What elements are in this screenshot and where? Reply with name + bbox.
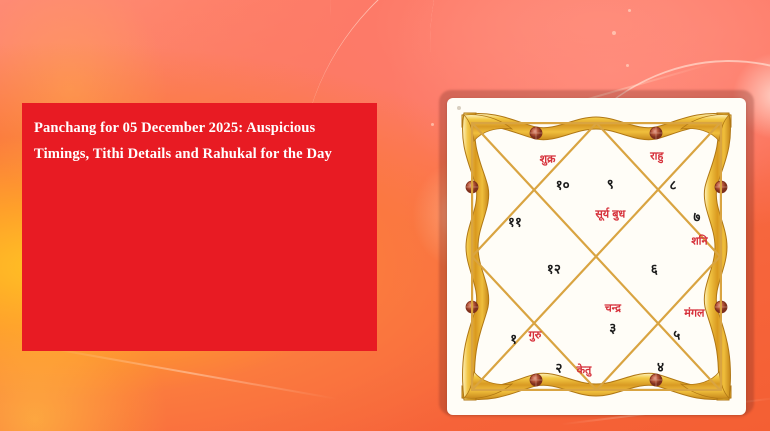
screenshot-root: Panchang for 05 December 2025: Auspiciou… [0,0,770,431]
headline-banner: Panchang for 05 December 2025: Auspiciou… [22,103,377,351]
kundli-house-grid: १०शुक्र९राहु८११सूर्य बुध७शनि१२६चन्द्र३मं… [471,122,722,391]
page-title: Panchang for 05 December 2025: Auspiciou… [34,115,365,167]
background-sparkle-4 [431,123,434,126]
background-sparkle-1 [612,31,616,35]
background-sparkle-3 [628,9,631,12]
kundli-chart-card: १०शुक्र९राहु८११सूर्य बुध७शनि१२६चन्द्र३मं… [447,98,746,415]
background-sparkle-2 [626,64,629,67]
